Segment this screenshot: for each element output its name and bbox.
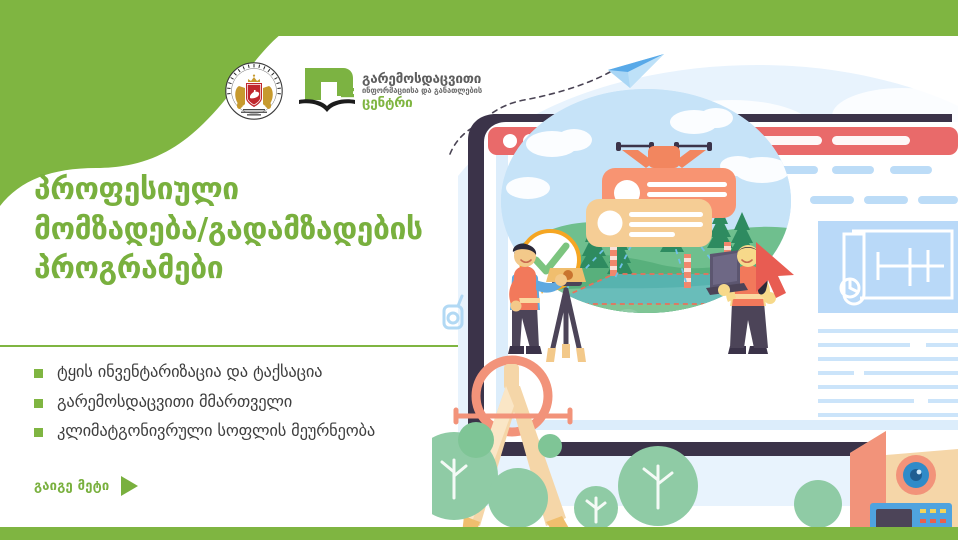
title-line-1: პროფესიული (34, 170, 464, 210)
page-title: პროფესიული მომზადება/გადამზადების პროგრა… (34, 170, 464, 289)
bullet-square-icon (34, 428, 43, 437)
logo-row: გარემოსდაცვითი ინფორმაციისა და განათლები… (225, 58, 555, 124)
learn-more-button[interactable]: გაიგე მეტი (34, 476, 138, 496)
bottom-green-bar (0, 527, 958, 540)
plotter-printer-device (850, 431, 958, 527)
list-item-label: გარემოსდაცვითი მმართველი (57, 392, 292, 413)
title-line-3: პროგრამები (34, 249, 464, 289)
list-item: გარემოსდაცვითი მმართველი (34, 392, 474, 413)
top-green-bar (0, 0, 958, 36)
eiec-logo: გარემოსდაცვითი ინფორმაციისა და განათლები… (299, 66, 482, 116)
title-divider (0, 345, 458, 347)
notification-card-amber (586, 199, 712, 247)
eiec-line-3: ცენტრი (362, 96, 482, 110)
list-item-label: კლიმატგონივრული სოფლის მეურნეობა (57, 421, 375, 442)
bullet-square-icon (34, 399, 43, 408)
play-triangle-icon[interactable] (121, 476, 138, 496)
bullet-list: ტყის ინვენტარიზაცია და ტაქსაცია გარემოსდ… (34, 362, 474, 451)
bullet-square-icon (34, 369, 43, 378)
learn-more-label: გაიგე მეტი (34, 479, 109, 494)
eiec-line-1: გარემოსდაცვითი (362, 72, 482, 86)
list-item-label: ტყის ინვენტარიზაცია და ტაქსაცია (57, 362, 322, 383)
list-item: კლიმატგონივრული სოფლის მეურნეობა (34, 421, 474, 442)
eiec-logo-text: გარემოსდაცვითი ინფორმაციისა და განათლები… (362, 72, 482, 110)
georgia-state-emblem-icon (225, 62, 283, 120)
eiec-logo-mark (299, 66, 355, 116)
eiec-line-2: ინფორმაციისა და განათლების (362, 87, 482, 95)
slide-root: გარემოსდაცვითი ინფორმაციისა და განათლები… (0, 0, 958, 540)
title-line-2: მომზადება/გადამზადების (34, 210, 464, 250)
list-item: ტყის ინვენტარიზაცია და ტაქსაცია (34, 362, 474, 383)
